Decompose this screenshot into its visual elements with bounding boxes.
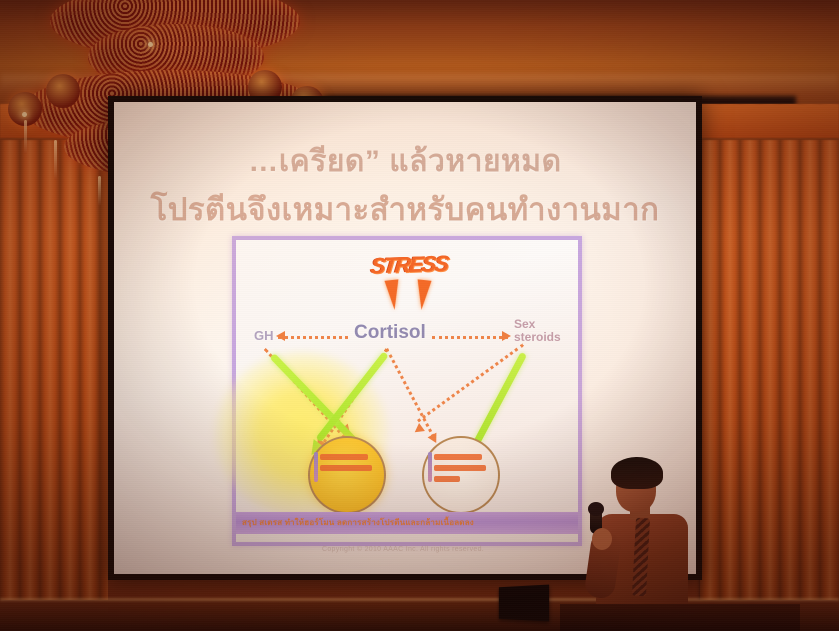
cell-text-line [320,454,368,460]
diagram-caption-bar: สรุป สเตรส ทำให้ฮอร์โมน ลดการสร้างโปรตีน… [236,512,578,534]
cell-marker [314,452,318,482]
microphone-head [588,502,604,516]
curtain-valance-right [700,104,839,140]
cell-text-bars [434,454,490,487]
presenter-table [560,604,800,631]
cell-circle-left [308,436,386,514]
slide-heading-line1: …เครียด” แล้วหายหมด [122,138,688,185]
arrowhead-sexsteroids [502,331,511,341]
arrowhead-gh [276,331,285,341]
cell-text-line [320,465,372,471]
cell-circle-right [422,436,500,514]
chandelier-sparkle [148,42,153,47]
cell-text-line [434,476,460,482]
stage-floor-edge [0,598,839,601]
slide-heading-line2: โปรตีนจึงเหมาะสำหรับคนทำงานมาก [122,184,688,234]
cell-text-line [434,454,482,460]
connector-cortisol-cell-right [385,348,435,438]
curtain-right [700,104,839,631]
node-label-sex-steroids: Sex steroids [514,318,574,344]
node-label-cortisol: Cortisol [354,322,426,344]
chandelier-crystal [24,120,27,154]
cell-text-bars [320,454,376,476]
slide-diagram-panel: STRESS GH Cortisol Sex steroids [232,236,582,546]
cell-marker [428,452,432,482]
diagram-caption-text: สรุป สเตรส ทำให้ฮอร์โมน ลดการสร้างโปรตีน… [242,516,572,529]
chandelier-crystal [98,176,101,206]
connector-cortisol-sexsteroids [432,336,508,339]
photo-scene: …เครียด” แล้วหายหมด โปรตีนจึงเหมาะสำหรับ… [0,0,839,631]
lightning-bolt-icon [384,279,401,310]
chandelier-crystal [54,140,57,180]
chandelier-sparkle [22,112,27,117]
presenter-hair [611,457,663,489]
node-label-gh: GH [254,328,274,343]
chandelier-arm [46,74,80,108]
connector-cortisol-gh [278,336,348,339]
arrowhead-sexsteroids-cell [412,423,425,436]
lightning-bolt-icon [414,279,431,310]
presenter-hand [592,528,612,550]
node-label-sex-steroids-line2: steroids [514,331,574,344]
cell-text-line [434,465,486,471]
stress-title: STRESS [352,250,465,280]
green-arrow-sexsteroids-cell [470,352,527,451]
slide-copyright: Copyright © 2010 AAAC Inc. All rights re… [232,546,574,553]
laptop [499,585,549,622]
